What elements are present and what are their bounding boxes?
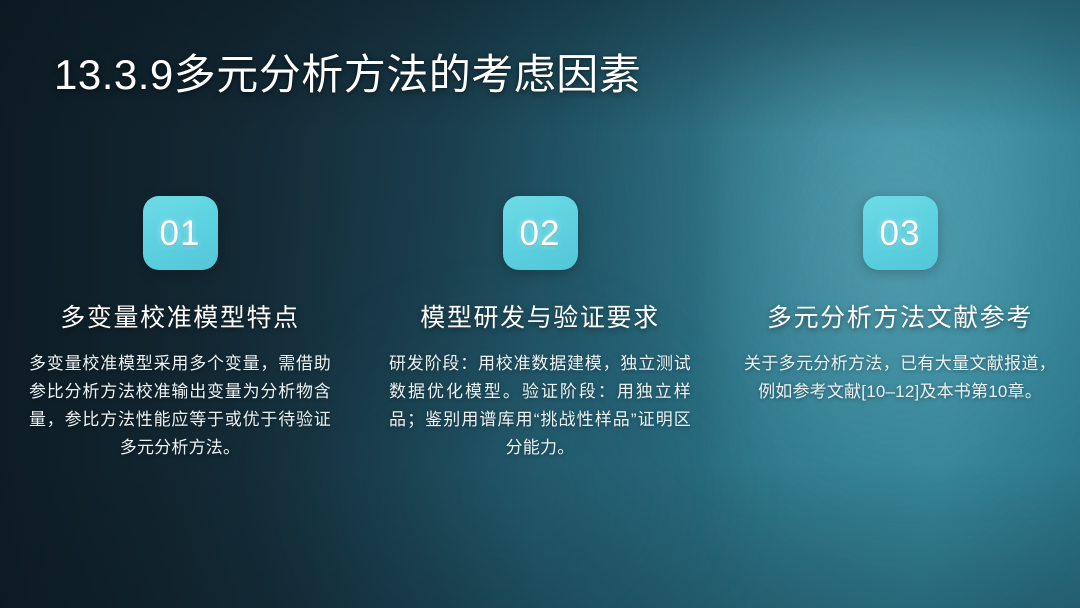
number-badge-label: 01 — [160, 216, 201, 251]
slide-canvas: 13.3.9多元分析方法的考虑因素 01 多变量校准模型特点 多变量校准模型采用… — [0, 0, 1080, 608]
number-badge-label: 03 — [880, 216, 921, 251]
number-badge-02: 02 — [503, 196, 578, 270]
content-column-01: 01 多变量校准模型特点 多变量校准模型采用多个变量，需借助参比分析方法校准输出… — [0, 196, 360, 462]
number-badge-01: 01 — [143, 196, 218, 270]
content-column-03: 03 多元分析方法文献参考 关于多元分析方法，已有大量文献报道，例如参考文献[1… — [720, 196, 1080, 462]
column-body-03: 关于多元分析方法，已有大量文献报道，例如参考文献[10–12]及本书第10章。 — [744, 350, 1056, 406]
column-body-01: 多变量校准模型采用多个变量，需借助参比分析方法校准输出变量为分析物含量，参比方法… — [29, 350, 331, 462]
number-badge-03: 03 — [863, 196, 938, 270]
number-badge-label: 02 — [520, 216, 561, 251]
column-heading-01: 多变量校准模型特点 — [60, 298, 299, 334]
content-columns: 01 多变量校准模型特点 多变量校准模型采用多个变量，需借助参比分析方法校准输出… — [0, 196, 1080, 462]
column-heading-02: 模型研发与验证要求 — [420, 298, 659, 334]
content-column-02: 02 模型研发与验证要求 研发阶段：用校准数据建模，独立测试数据优化模型。验证阶… — [360, 196, 720, 462]
column-body-02: 研发阶段：用校准数据建模，独立测试数据优化模型。验证阶段：用独立样品；鉴别用谱库… — [389, 350, 691, 462]
column-heading-03: 多元分析方法文献参考 — [767, 298, 1033, 334]
slide-title: 13.3.9多元分析方法的考虑因素 — [54, 50, 641, 100]
